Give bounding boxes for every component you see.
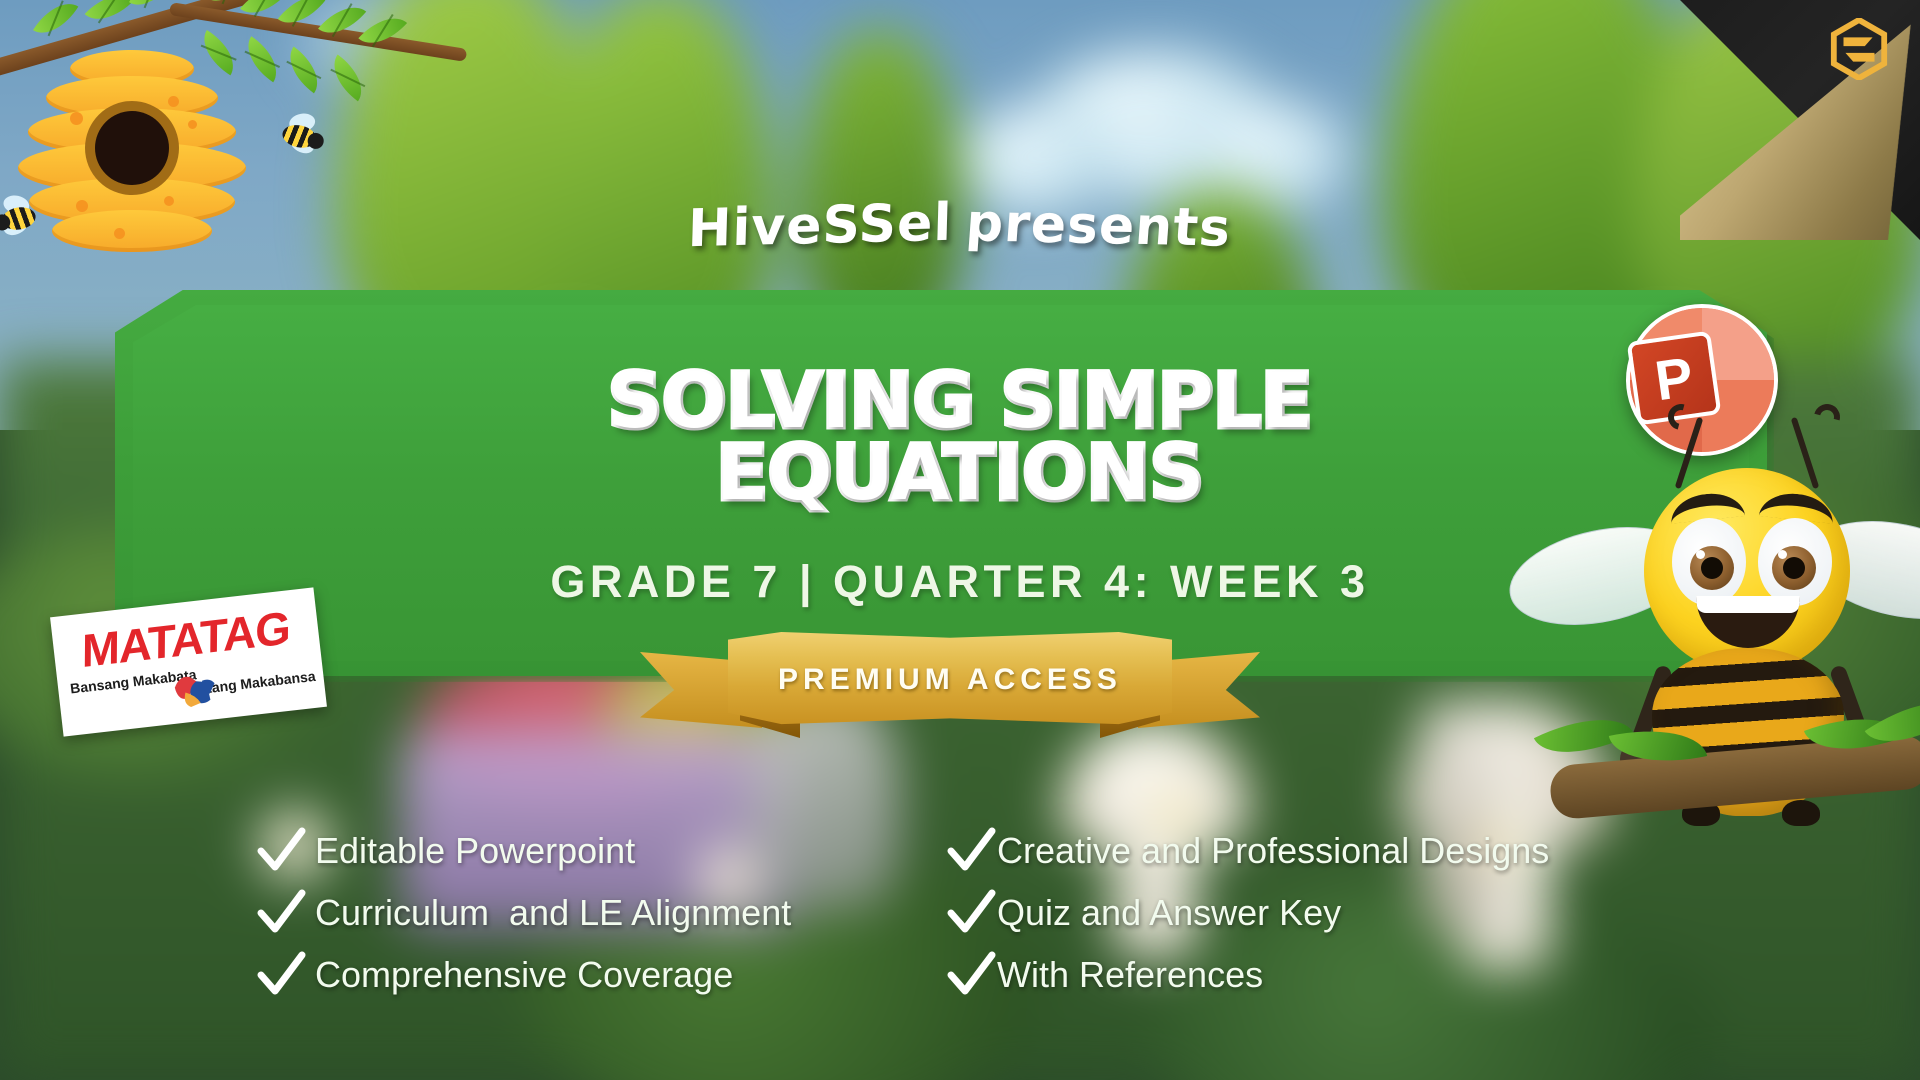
bee-icon — [270, 113, 333, 164]
list-item: Quiz and Answer Key — [945, 882, 1675, 944]
beehive-decoration — [0, 0, 422, 308]
slide-canvas: HiveSSelpresents SOLVING SIMPLE EQUATION… — [0, 0, 1920, 1080]
feature-label: Curriculum and LE Alignment — [315, 892, 791, 934]
beehive-entrance-icon — [95, 111, 169, 185]
leaf-icon — [322, 54, 373, 101]
list-item: Curriculum and LE Alignment — [255, 882, 895, 944]
bee-eye-glint-icon — [1778, 550, 1787, 559]
check-icon — [255, 887, 307, 939]
check-icon — [945, 887, 997, 939]
check-icon — [255, 949, 307, 1001]
feature-label: Comprehensive Coverage — [315, 954, 733, 996]
feature-column-left: Editable Powerpoint Curriculum and LE Al… — [255, 820, 895, 1006]
clasped-hands-icon — [169, 664, 225, 710]
list-item: Editable Powerpoint — [255, 820, 895, 882]
presents-word: presents — [964, 193, 1233, 259]
hexagon-brand-icon — [1828, 18, 1890, 80]
bee-mascot — [1586, 420, 1920, 820]
brand-name: HiveSSel — [687, 193, 953, 259]
premium-access-ribbon: PREMIUM ACCESS — [640, 632, 1260, 748]
feature-label: Creative and Professional Designs — [997, 830, 1549, 872]
leaf-icon — [278, 46, 329, 93]
bee-teeth-icon — [1696, 596, 1800, 613]
check-icon — [945, 825, 997, 877]
ribbon-label: PREMIUM ACCESS — [728, 632, 1172, 728]
list-item: With References — [945, 944, 1675, 1006]
check-icon — [945, 949, 997, 1001]
bee-leg-right-icon — [1782, 800, 1820, 826]
bee-pupil-right-icon — [1783, 557, 1805, 579]
bee-pupil-left-icon — [1701, 557, 1723, 579]
page-curl-corner — [1680, 0, 1920, 240]
feature-label: Quiz and Answer Key — [997, 892, 1341, 934]
feature-label: With References — [997, 954, 1263, 996]
list-item: Creative and Professional Designs — [945, 820, 1675, 882]
list-item: Comprehensive Coverage — [255, 944, 895, 1006]
bee-eye-glint-icon — [1696, 550, 1705, 559]
bee-antenna-right-icon — [1791, 417, 1820, 489]
check-icon — [255, 825, 307, 877]
feature-column-right: Creative and Professional Designs Quiz a… — [945, 820, 1675, 1006]
presents-heading: HiveSSelpresents — [0, 196, 1920, 256]
feature-label: Editable Powerpoint — [315, 830, 635, 872]
